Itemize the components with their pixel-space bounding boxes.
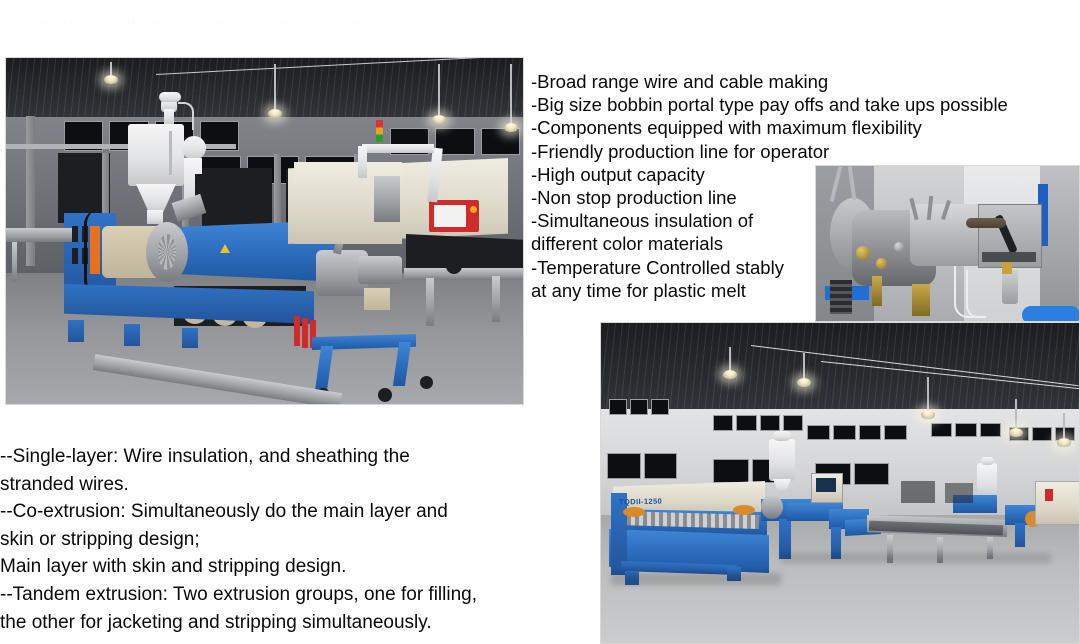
hopper-neck — [164, 109, 174, 125]
note-line: the other for jacketing and stripping si… — [0, 609, 600, 637]
capstan-wheel-2 — [733, 505, 755, 515]
line-rear-equipment-2 — [945, 483, 973, 503]
features-list: -Broad range wire and cable making -Big … — [531, 70, 1079, 302]
cart-caster-2 — [378, 388, 392, 402]
feature-line: at any time for plastic melt — [531, 279, 1079, 302]
workshop-window-2 — [713, 415, 803, 431]
workshop-lamp-2 — [803, 353, 805, 379]
detail-blue-pipe — [1022, 306, 1080, 322]
line-takeup-leg — [1015, 523, 1025, 547]
control-panel-face — [434, 205, 466, 227]
workshop-lamp-1 — [729, 347, 731, 371]
workshop-window-6 — [607, 453, 677, 479]
workshop-lamp-3 — [927, 377, 929, 411]
hopper-hose — [178, 102, 194, 130]
note-line: stranded wires. — [0, 471, 600, 499]
line-end-cabinet-label — [1045, 489, 1053, 501]
vent-duct-riser — [358, 146, 367, 178]
feature-line: -Friendly production line for operator — [531, 140, 1079, 163]
vent-slot-1 — [72, 226, 78, 242]
ribbon-divider — [0, 43, 1080, 44]
floor-shadow-1 — [611, 573, 781, 585]
feature-line: different color materials — [531, 232, 1079, 255]
note-line: Main layer with skin and stripping desig… — [0, 553, 600, 581]
hopper-body — [128, 124, 184, 186]
feature-line: -Simultaneous insulation of — [531, 209, 1079, 232]
power-cable — [84, 210, 111, 294]
workshop-window-3 — [807, 425, 907, 440]
feature-line: -Big size bobbin portal type pay offs an… — [531, 93, 1079, 116]
side-bench-top — [6, 228, 72, 242]
capstan-wheel-1 — [623, 507, 645, 517]
manifold-valve-1 — [294, 316, 300, 346]
ceiling-lamp-4 — [510, 64, 512, 124]
hopper-cap — [159, 92, 181, 102]
workshop-window-1 — [609, 399, 669, 415]
extruder-line-photo — [5, 57, 524, 405]
trough-leg-1 — [426, 278, 434, 326]
workshop-lamp-4 — [1015, 399, 1017, 429]
feature-line: -Non stop production line — [531, 186, 1079, 209]
note-line: --Co-extrusion: Simultaneously do the ma… — [0, 498, 600, 526]
motor-fan-blades — [158, 234, 176, 270]
top-ribbon: TQD SERIES HIGH SPEED CABLE EXTRUSION LI… — [0, 0, 1080, 46]
workshop-lamp-5 — [1063, 413, 1065, 439]
warning-triangle-icon — [220, 244, 230, 253]
feature-line: -Temperature Controlled stably — [531, 256, 1079, 279]
die-head — [358, 256, 402, 284]
feature-line: -Broad range wire and cable making — [531, 70, 1079, 93]
line-hopper-2-cap — [981, 457, 994, 465]
cabinet-viewport — [374, 176, 400, 222]
line-extruder-1-gearbox — [761, 495, 783, 519]
workshop-window-4 — [931, 423, 1001, 437]
control-panel-lamp — [470, 206, 477, 213]
side-bench-leg — [12, 242, 17, 282]
note-line: skin or stripping design; — [0, 526, 600, 554]
machine-model-label: TQDII-1250 — [619, 497, 662, 507]
note-line: --Single-layer: Wire insulation, and she… — [0, 443, 600, 471]
vent-slot-3 — [72, 248, 78, 264]
stack-light-icon — [376, 120, 383, 142]
base-foot-1 — [68, 320, 84, 342]
cart-caster-3 — [420, 376, 433, 389]
production-line-photo: TQDII-1250 — [600, 322, 1080, 644]
factory-roof — [6, 58, 523, 117]
note-line: --Tandem extrusion: Two extrusion groups… — [0, 581, 600, 609]
trough-wheel — [446, 258, 462, 274]
feature-line: -High output capacity — [531, 163, 1079, 186]
extrusion-notes: --Single-layer: Wire insulation, and she… — [0, 443, 600, 636]
vent-duct-horizontal — [362, 144, 434, 153]
base-foot-2 — [124, 324, 140, 346]
blower-fan — [182, 136, 206, 160]
floor-shadow-2 — [781, 553, 1051, 563]
ceiling-lamp-3 — [438, 64, 440, 116]
trough-rail — [404, 268, 524, 280]
base-foot-3 — [182, 328, 198, 348]
line-control-screen — [816, 478, 836, 492]
ceiling-lamp-1 — [110, 62, 112, 76]
ceiling-lamp-2 — [274, 64, 276, 110]
feature-line: -Components equipped with maximum flexib… — [531, 116, 1079, 139]
die-support — [364, 288, 390, 310]
line-end-cabinet — [1035, 481, 1080, 525]
manifold-valve-2 — [302, 318, 308, 348]
line-hopper-1-body — [769, 439, 795, 481]
hopper-outlet — [147, 210, 163, 224]
trough-leg-2 — [492, 276, 500, 322]
pillar-1 — [26, 116, 35, 266]
ribbon-ghost-text: TQD SERIES HIGH SPEED CABLE EXTRUSION LI… — [4, 18, 376, 30]
workshop-roof — [601, 323, 1079, 409]
hopper-sight-glass — [169, 131, 172, 175]
line-hopper-1-cap — [773, 431, 791, 441]
line-rear-equipment-1 — [901, 481, 935, 503]
line-hopper-2-body — [977, 463, 997, 499]
